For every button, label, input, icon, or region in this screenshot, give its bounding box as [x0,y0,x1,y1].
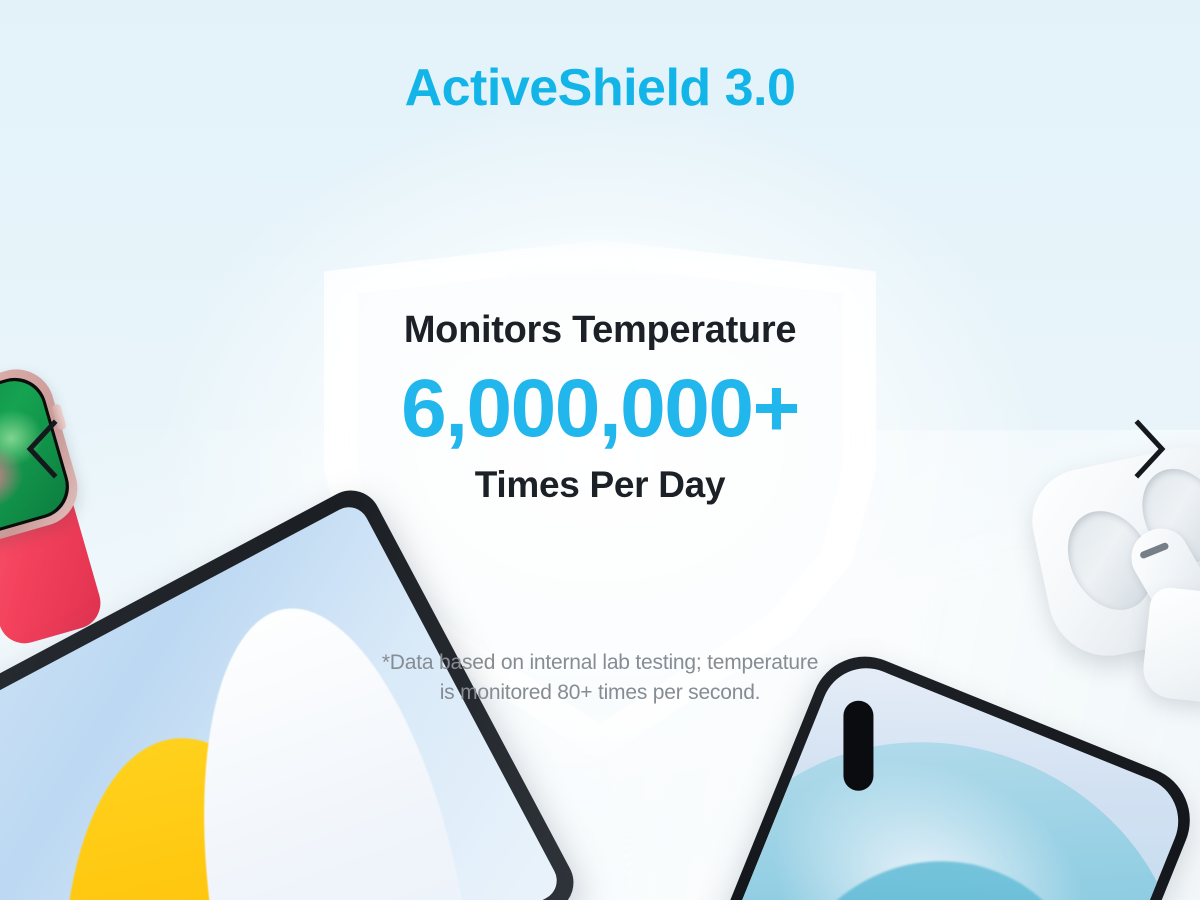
promo-banner: ActiveShield 3.0 Monitors Temperature 6,… [0,0,1200,900]
stat-block: Monitors Temperature 6,000,000+ Times Pe… [0,310,1200,506]
dynamic-island [843,701,873,791]
carousel-next-button[interactable] [1118,415,1180,483]
earbud-vent [1139,542,1169,560]
stat-label-bottom: Times Per Day [0,464,1200,506]
chevron-left-icon [12,415,74,483]
stat-value: 6,000,000+ [0,362,1200,456]
wallpaper-ribbon-white [161,588,518,900]
footnote-line-1: *Data based on internal lab testing; tem… [0,648,1200,678]
footnote-line-2: is monitored 80+ times per second. [0,678,1200,708]
stat-label-top: Monitors Temperature [0,310,1200,352]
chevron-right-icon [1118,415,1180,483]
footnote: *Data based on internal lab testing; tem… [0,648,1200,709]
carousel-prev-button[interactable] [12,415,74,483]
page-title: ActiveShield 3.0 [0,58,1200,118]
